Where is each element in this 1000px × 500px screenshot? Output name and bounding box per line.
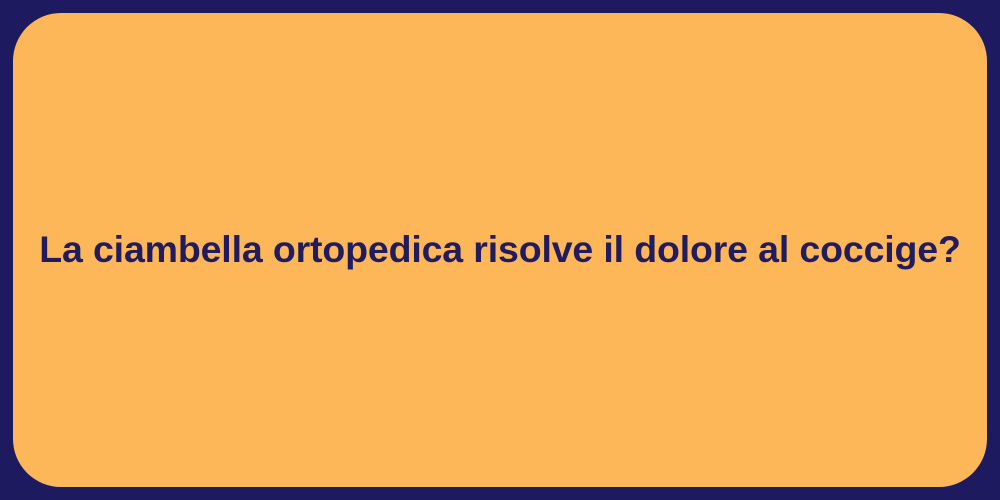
- banner-card: La ciambella ortopedica risolve il dolor…: [13, 13, 987, 487]
- banner-canvas: La ciambella ortopedica risolve il dolor…: [0, 0, 1000, 500]
- headline-text: La ciambella ortopedica risolve il dolor…: [39, 225, 961, 275]
